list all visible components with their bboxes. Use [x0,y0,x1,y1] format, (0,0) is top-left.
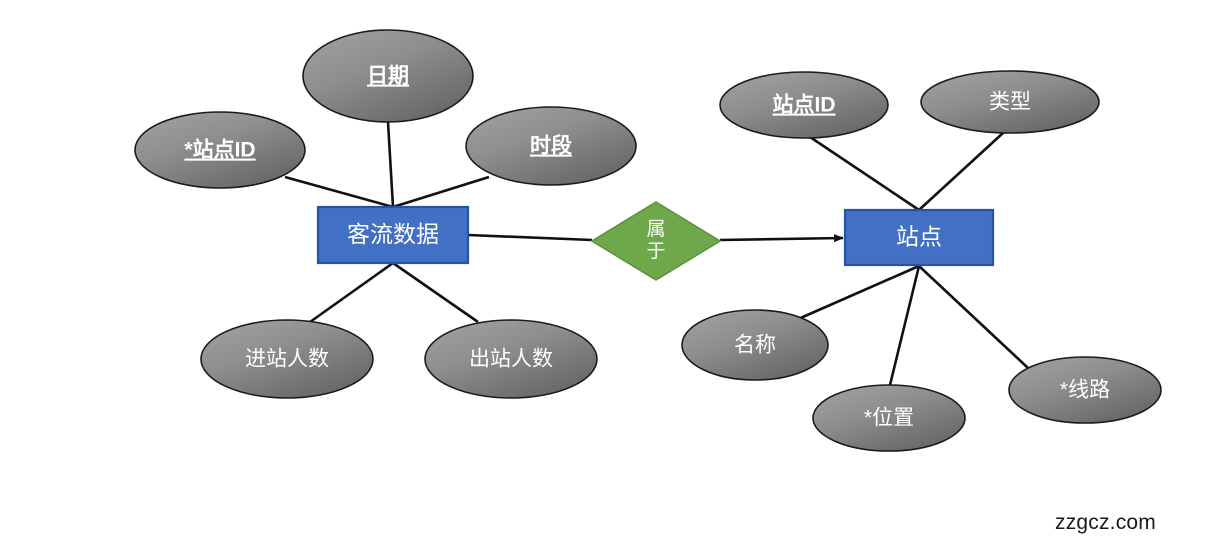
attribute-label-station-name: 名称 [734,334,776,357]
connector-edge-station-location [890,266,919,385]
attribute-label-station-type: 类型 [989,91,1031,114]
connector-edge-time-slot [393,177,489,207]
connector-edge-station-type [919,133,1003,210]
er-diagram-canvas: 日期*站点ID时段进站人数出站人数站点ID类型名称*位置*线路客流数据站点属于 … [0,0,1218,543]
entity-label-station: 站点 [896,224,942,250]
attribute-label-time-slot: 时段 [530,134,572,158]
connector-edge-rel-to-station [720,238,843,240]
connector-edge-flow-station-id [285,177,393,207]
connector-edge-exit-count [393,263,478,322]
attribute-label-station-line: *线路 [1060,379,1110,402]
relationship-label-belongs-to-line-0: 属 [646,219,665,240]
watermark-text: zzgcz.com [1055,511,1156,535]
entity-label-passenger-flow-data: 客流数据 [347,221,439,247]
attribute-label-date: 日期 [367,65,409,88]
attribute-label-exit-count: 出站人数 [469,348,553,371]
er-diagram-svg: 日期*站点ID时段进站人数出站人数站点ID类型名称*位置*线路客流数据站点属于 [0,0,1218,543]
attribute-label-entry-count: 进站人数 [245,348,329,371]
connector-edge-flow-to-rel [468,235,592,240]
connector-edge-station-id [810,137,919,210]
connector-edge-entry-count [310,263,393,322]
attribute-label-station-id: 站点ID [773,93,836,117]
attribute-label-flow-station-id: *站点ID [184,138,255,162]
connector-edge-station-name [796,266,919,320]
connector-edge-station-line [919,266,1028,368]
connector-edge-date [388,122,393,207]
attribute-label-station-location: *位置 [864,407,914,430]
relationship-label-belongs-to-line-1: 于 [646,241,665,262]
